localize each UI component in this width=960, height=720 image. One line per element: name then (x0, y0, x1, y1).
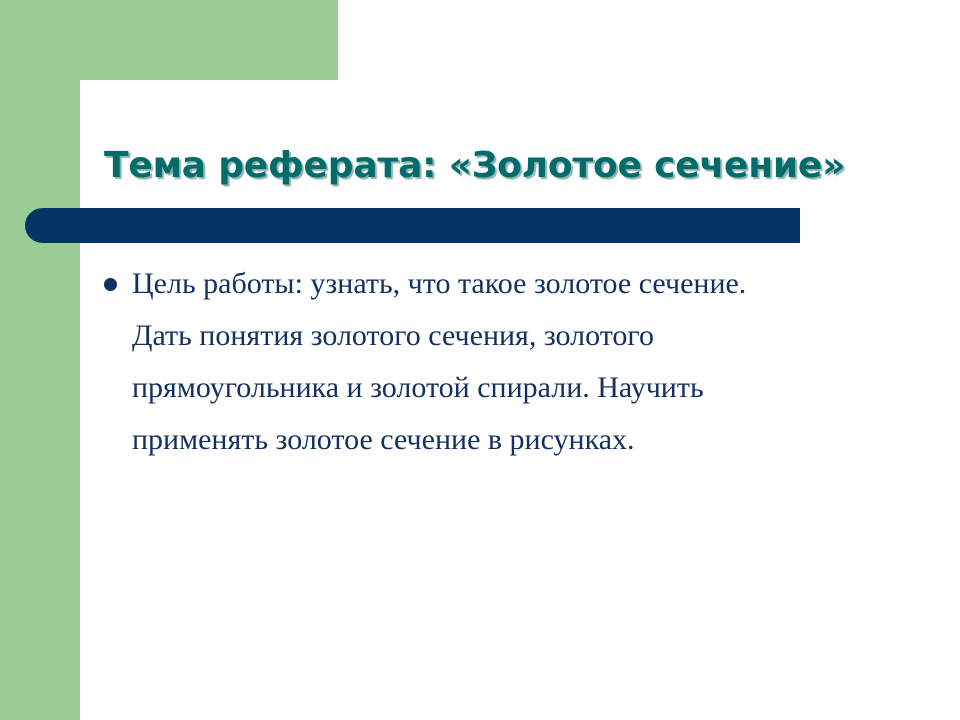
slide-title: Тема реферата: «Золотое сечение» (104, 136, 924, 194)
green-left-strip-decoration (0, 0, 80, 720)
bullet-dot-icon (104, 278, 117, 291)
green-top-block-decoration (0, 0, 338, 80)
presentation-slide: Тема реферата: «Золотое сечение» Цель ра… (0, 0, 960, 720)
list-item: Цель работы: узнать, что такое золотое с… (100, 258, 800, 466)
bullet-item-text: Цель работы: узнать, что такое золотое с… (132, 258, 800, 466)
title-divider-bar (25, 208, 800, 243)
slide-bullet-list: Цель работы: узнать, что такое золотое с… (100, 258, 800, 466)
